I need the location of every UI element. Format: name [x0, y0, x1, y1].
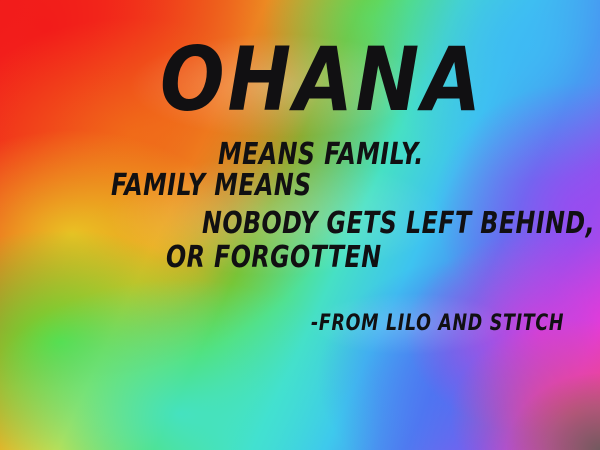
poster-title: OHANA	[160, 36, 484, 124]
quote-attribution: -FROM LILO AND STITCH	[311, 313, 564, 335]
quote-line-1: MEANS FAMILY.	[218, 140, 424, 170]
quote-poster: OHANA MEANS FAMILY. FAMILY MEANS NOBODY …	[0, 0, 600, 450]
quote-line-2: FAMILY MEANS	[111, 171, 312, 201]
quote-line-4: OR FORGOTTEN	[166, 243, 382, 273]
quote-line-3: NOBODY GETS LEFT BEHIND,	[202, 209, 595, 239]
